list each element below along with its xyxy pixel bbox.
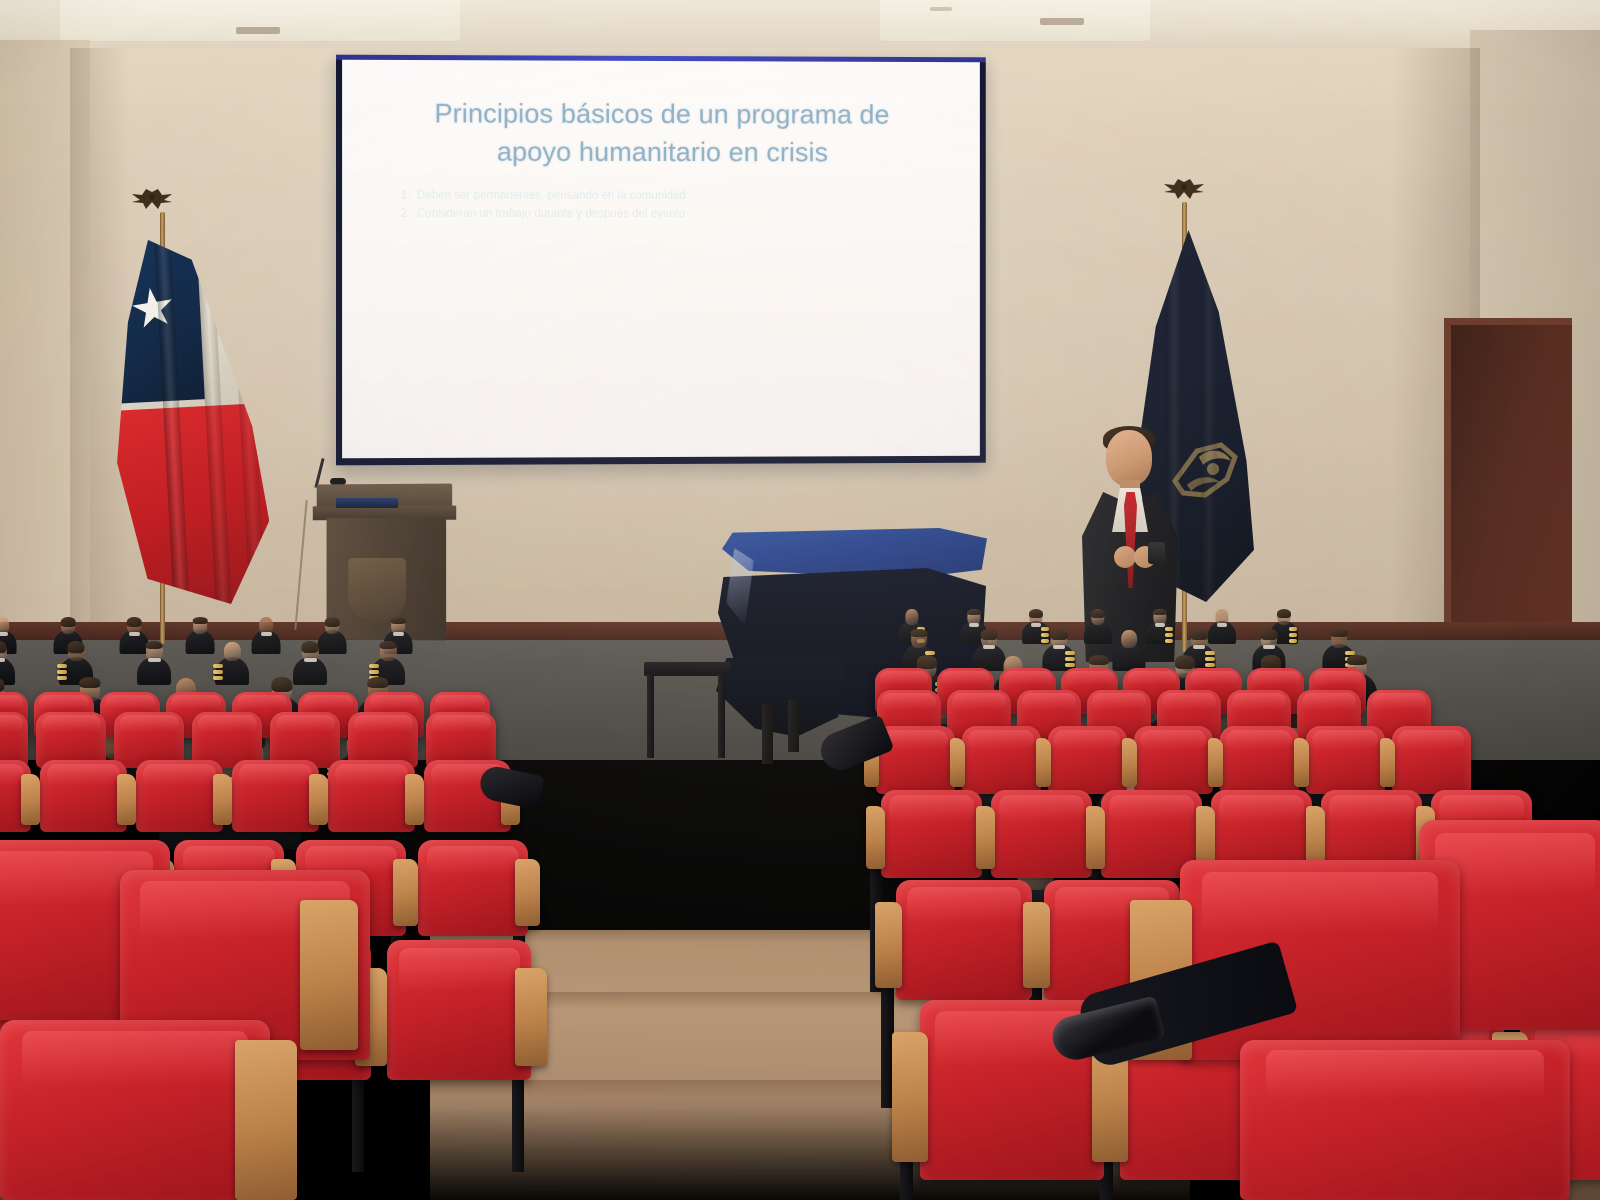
piano-leg	[788, 700, 799, 752]
audience-hair	[367, 677, 388, 688]
seat-armrest	[235, 1040, 297, 1200]
audience-member	[1115, 628, 1143, 666]
piano-cover-drape	[716, 658, 846, 740]
rank-stripe	[1205, 651, 1215, 655]
audience-hair	[1347, 655, 1367, 665]
ceiling-vent-right	[1040, 18, 1084, 25]
rank-stripe	[1165, 639, 1173, 643]
seat-armrest	[213, 774, 232, 824]
seat-armrest	[21, 774, 40, 824]
slide-bullet-list: 1.Deben ser permanentes, pensando en la …	[401, 188, 937, 225]
seat-armrest	[976, 806, 996, 869]
rank-stripe	[1289, 639, 1297, 643]
seat-armrest	[1208, 738, 1223, 787]
audience-member	[140, 640, 169, 680]
audience-hair	[0, 677, 5, 692]
slide-bullet-1: 1.Deben ser permanentes, pensando en la …	[401, 188, 937, 205]
audience-member	[1045, 628, 1073, 666]
seat-armrest	[393, 859, 417, 926]
audience-hair	[1261, 629, 1278, 640]
eagle-finial-right	[1160, 178, 1208, 204]
audience-hair	[1051, 629, 1068, 640]
audience-hair	[981, 629, 998, 640]
auditorium-seat[interactable]	[1392, 726, 1471, 794]
audience-hair	[302, 641, 319, 653]
chile-flag-canton	[102, 237, 205, 404]
rank-stripe	[1165, 627, 1173, 631]
seat-armrest	[1086, 806, 1106, 869]
bench-leg	[718, 674, 725, 758]
lectern-crest-emblem	[348, 558, 406, 620]
rank-stripe	[213, 664, 223, 668]
audience-hair	[325, 617, 340, 627]
audience-hair	[391, 617, 406, 624]
seat-armrest	[1023, 902, 1050, 988]
uniform-collar	[1193, 645, 1205, 649]
seat-armrest	[300, 900, 358, 1050]
rank-stripe	[1165, 633, 1173, 637]
audience-hair	[911, 629, 928, 637]
auditorium-seat[interactable]	[0, 1020, 270, 1200]
audience-hair	[380, 641, 397, 649]
audience-hair	[967, 609, 981, 616]
slide-bullet-2: 2.Consideran un trabajo durante y despué…	[401, 206, 937, 223]
uniform-collar	[1263, 645, 1275, 649]
seat-armrest	[1036, 738, 1051, 787]
seat-armrest	[1294, 738, 1309, 787]
officer-uniform	[1084, 621, 1112, 643]
rank-stripe	[213, 670, 223, 674]
audience-member	[374, 640, 403, 680]
uniform-collar	[969, 623, 979, 627]
ceiling-light-right	[930, 7, 952, 11]
uniform-collar	[304, 658, 317, 662]
auditorium-seat[interactable]	[232, 760, 318, 832]
auditorium-seat[interactable]	[1048, 726, 1127, 794]
auditorium-seat[interactable]	[896, 880, 1032, 1000]
audience-member	[218, 640, 247, 680]
seat-armrest	[515, 859, 539, 926]
audience-hair	[127, 617, 142, 627]
uniform-collar	[1155, 623, 1165, 627]
audience-hair	[1331, 629, 1348, 637]
audience-hair	[1277, 609, 1291, 619]
rank-stripe	[57, 664, 67, 668]
presenter-left-hand	[1114, 546, 1136, 568]
uniform-collar	[1217, 623, 1227, 627]
rank-stripe	[213, 676, 223, 680]
piano-bench	[644, 662, 730, 758]
slide-title: Principios básicos de un programa de apo…	[387, 94, 937, 172]
bullet-text-1: Deben ser permanentes, pensando en la co…	[417, 190, 686, 202]
seat-armrest	[866, 806, 886, 869]
rank-stripe	[1205, 657, 1215, 661]
auditorium-seat[interactable]	[1220, 726, 1299, 794]
audience-hair	[1191, 629, 1208, 640]
uniform-collar	[1053, 645, 1065, 649]
audience-hair	[1089, 655, 1109, 665]
bullet-number-2: 2.	[401, 206, 417, 222]
audience-hair	[1091, 609, 1105, 619]
rank-stripe	[369, 664, 379, 668]
audience-member	[254, 616, 278, 650]
auditorium-seat[interactable]	[881, 790, 982, 878]
audience-hair	[1029, 609, 1043, 619]
uniform-collar	[261, 632, 272, 636]
bullet-text-2: Consideran un trabajo durante y después …	[417, 208, 685, 220]
presentation-clicker[interactable]	[1148, 542, 1165, 564]
audience-head	[905, 609, 918, 624]
ceiling-panel-right	[880, 0, 1150, 42]
rank-stripe	[1065, 651, 1075, 655]
bench-leg	[647, 674, 654, 758]
rank-stripe	[1289, 633, 1297, 637]
seat-armrest	[309, 774, 328, 824]
uniform-collar	[148, 658, 161, 662]
auditorium-seat[interactable]	[136, 760, 222, 832]
slide-surface: Principios básicos de un programa de apo…	[342, 60, 980, 459]
audience-hair	[68, 641, 85, 653]
rank-stripe	[57, 676, 67, 680]
audience-hair	[1261, 655, 1281, 669]
auditorium-seat[interactable]	[40, 760, 126, 832]
audience-member	[0, 640, 13, 680]
eagle-finial-left	[128, 188, 176, 214]
uniform-collar	[983, 645, 995, 649]
audience-head	[1121, 630, 1137, 648]
projection-screen[interactable]: Principios básicos de un programa de apo…	[336, 55, 986, 466]
seat-armrest	[875, 902, 902, 988]
audience-hair	[917, 655, 937, 669]
chile-flag	[102, 234, 273, 609]
auditorium-seat[interactable]	[418, 840, 528, 936]
officer-uniform	[1112, 644, 1145, 671]
audience-hair	[61, 617, 76, 627]
audience-hair	[0, 641, 7, 653]
presenter-head	[1106, 430, 1152, 486]
auditorium-seat[interactable]	[1240, 1040, 1570, 1200]
rank-stripe	[1065, 663, 1075, 667]
audience-hair	[271, 677, 292, 692]
audience-member	[1210, 608, 1234, 640]
lectern-laptop[interactable]	[336, 498, 398, 508]
seat-armrest	[117, 774, 136, 824]
audience-hair	[193, 617, 208, 624]
ceiling-panel-left	[60, 0, 460, 42]
uniform-collar	[129, 632, 140, 636]
audience-member	[1148, 608, 1172, 640]
seat-armrest	[515, 968, 547, 1066]
rank-stripe	[1289, 627, 1297, 631]
rank-stripe	[1065, 657, 1075, 661]
chile-flag-red-band	[111, 403, 273, 609]
auditorium-seat[interactable]	[328, 760, 414, 832]
audience-member	[62, 640, 91, 680]
audience-hair	[1153, 609, 1167, 616]
slide-title-line-1: Principios básicos de un programa de	[387, 94, 937, 134]
auditorium-seat[interactable]	[991, 790, 1092, 878]
auditorium-seat[interactable]	[1306, 726, 1385, 794]
seat-armrest	[892, 1032, 928, 1162]
audience-head	[224, 642, 240, 661]
piano-leg	[762, 704, 773, 764]
slide-title-line-2: apoyo humanitario en crisis	[387, 133, 937, 173]
officer-uniform	[186, 630, 215, 654]
seat-armrest	[1122, 738, 1137, 787]
audience-hair	[146, 641, 163, 649]
rank-stripe	[369, 670, 379, 674]
seat-armrest	[405, 774, 424, 824]
audience-member	[296, 640, 325, 680]
flag-fold	[1201, 230, 1217, 602]
ceiling-vent-left	[236, 27, 280, 34]
rank-stripe	[57, 670, 67, 674]
auditorium-scene: Principios básicos de un programa de apo…	[0, 0, 1600, 1200]
rank-stripe	[1205, 663, 1215, 667]
auditorium-seat[interactable]	[1134, 726, 1213, 794]
uniform-collar	[0, 632, 8, 636]
bullet-number-1: 1.	[401, 188, 417, 204]
auditorium-seat[interactable]	[387, 940, 531, 1080]
seat-armrest	[950, 738, 965, 787]
audience-hair	[79, 677, 100, 688]
audience-member	[1086, 608, 1110, 640]
uniform-collar	[393, 632, 404, 636]
uniform-collar	[1031, 623, 1041, 627]
audience-hair	[1175, 655, 1195, 669]
auditorium-seat[interactable]	[962, 726, 1041, 794]
audience-member	[188, 616, 212, 650]
seat-armrest	[1380, 738, 1395, 787]
chile-flag-cloth	[102, 234, 273, 609]
